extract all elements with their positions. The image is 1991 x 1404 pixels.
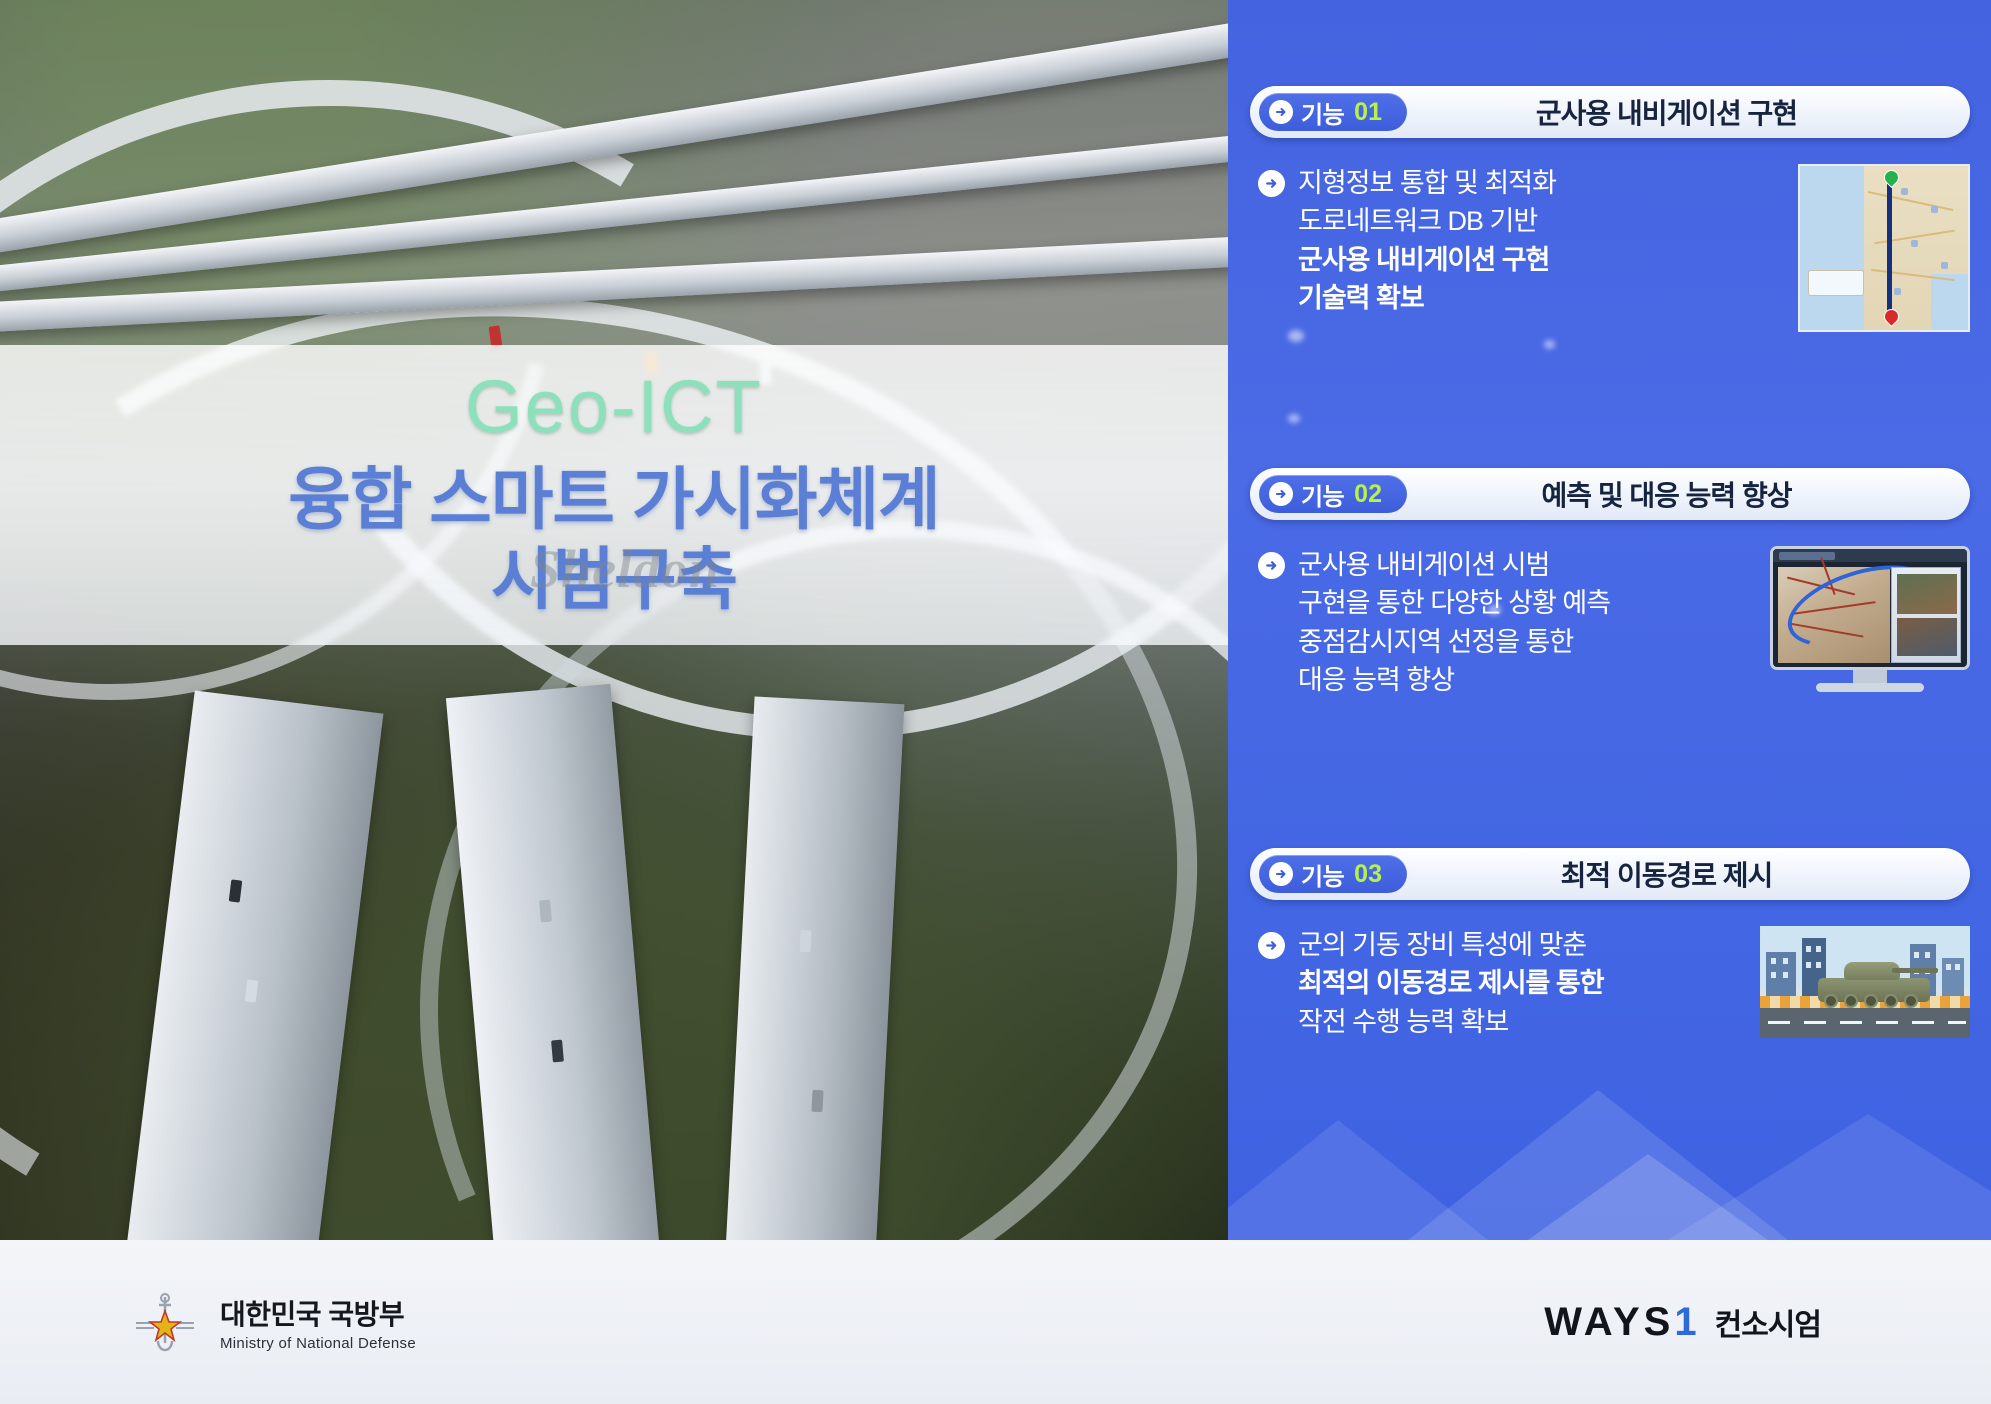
slide-footer: 대한민국 국방부 Ministry of National Defense WA…	[0, 1240, 1991, 1404]
feature-block-02: 기능 02 예측 및 대응 능력 향상 군사용 내비게이션 시범 구현을 통한 …	[1250, 468, 1970, 699]
body-line: 최적의 이동경로 제시를 통한	[1298, 964, 1604, 1002]
monitor-image	[1770, 546, 1970, 696]
feature-title-02: 예측 및 대응 능력 향상	[1407, 474, 1970, 514]
tank-illustration	[1760, 926, 1970, 1038]
badge-number-02: 02	[1354, 480, 1382, 509]
feature-header-03[interactable]: 기능 03 최적 이동경로 제시	[1250, 848, 1970, 900]
thumbnail-tank-on-road	[1760, 926, 1970, 1041]
thumbnail-korea-route-map	[1798, 164, 1970, 332]
tank-icon	[1818, 962, 1930, 1014]
left-photo-panel: Geo-ICT 융합 스마트 가시화체계 시범구축 Sheldon	[0, 0, 1228, 1240]
eyebrow-geo-ict: Geo-ICT	[465, 370, 763, 444]
arrow-right-icon	[1269, 100, 1293, 124]
thumbnail-desktop-monitor	[1770, 546, 1970, 699]
eta-label	[1808, 270, 1864, 296]
badge-label-01: 기능	[1301, 95, 1344, 130]
right-feature-panel: 기능 01 군사용 내비게이션 구현 지형정보 통합 및 최적화 도로네트워크 …	[1228, 0, 1991, 1240]
mountain-decoration	[1228, 1070, 1991, 1240]
feature-badge-01: 기능 01	[1259, 93, 1407, 131]
body-line: 대응 능력 향상	[1298, 661, 1610, 699]
feature-text-02: 군사용 내비게이션 시범 구현을 통한 다양한 상황 예측 중점감시지역 선정을…	[1298, 546, 1610, 699]
mnd-name-ko: 대한민국 국방부	[220, 1293, 416, 1333]
consortium-label: 컨소시엄	[1715, 1300, 1821, 1344]
page-title-line1: 융합 스마트 가시화체계	[288, 460, 939, 540]
ways-wordmark: WAYS1	[1544, 1300, 1700, 1345]
body-line: 군사용 내비게이션 구현	[1298, 241, 1556, 279]
end-pin-icon	[1881, 306, 1902, 327]
mnd-logo-text: 대한민국 국방부 Ministry of National Defense	[220, 1293, 416, 1352]
badge-number-03: 03	[1354, 860, 1382, 889]
badge-label-02: 기능	[1301, 477, 1344, 512]
page-title: 융합 스마트 가시화체계 시범구축	[288, 460, 939, 620]
ways-wordmark-one: 1	[1674, 1300, 1700, 1344]
body-line: 중점감시지역 선정을 통한	[1298, 623, 1610, 661]
feature-block-01: 기능 01 군사용 내비게이션 구현 지형정보 통합 및 최적화 도로네트워크 …	[1250, 86, 1970, 332]
feature-body-02: 군사용 내비게이션 시범 구현을 통한 다양한 상황 예측 중점감시지역 선정을…	[1250, 546, 1970, 699]
feature-text-01: 지형정보 통합 및 최적화 도로네트워크 DB 기반 군사용 내비게이션 구현 …	[1298, 164, 1556, 332]
ways1-consortium-logo: WAYS1 컨소시엄	[1544, 1300, 1821, 1345]
body-line: 군사용 내비게이션 시범	[1298, 546, 1610, 584]
arrow-right-icon	[1258, 552, 1285, 579]
mnd-logo-group: 대한민국 국방부 Ministry of National Defense	[128, 1291, 416, 1353]
mnd-emblem-icon	[128, 1291, 202, 1353]
arrow-right-icon	[1269, 482, 1293, 506]
badge-number-01: 01	[1354, 98, 1382, 127]
body-line: 기술력 확보	[1298, 279, 1556, 317]
feature-badge-02: 기능 02	[1259, 475, 1407, 513]
feature-title-03: 최적 이동경로 제시	[1407, 854, 1970, 894]
page-title-line2: 시범구축	[288, 540, 939, 620]
arrow-right-icon	[1258, 170, 1285, 197]
body-line: 작전 수행 능력 확보	[1298, 1003, 1604, 1041]
arrow-right-icon	[1269, 862, 1293, 886]
start-pin-icon	[1881, 167, 1902, 188]
map-image	[1798, 164, 1970, 332]
arrow-right-icon	[1258, 932, 1285, 959]
feature-header-01[interactable]: 기능 01 군사용 내비게이션 구현	[1250, 86, 1970, 138]
presentation-slide: Geo-ICT 융합 스마트 가시화체계 시범구축 Sheldon 기능 01	[0, 0, 1991, 1404]
feature-body-03: 군의 기동 장비 특성에 맞춘 최적의 이동경로 제시를 통한 작전 수행 능력…	[1250, 926, 1970, 1041]
body-line: 도로네트워크 DB 기반	[1298, 202, 1556, 240]
badge-label-03: 기능	[1301, 857, 1344, 892]
feature-badge-03: 기능 03	[1259, 855, 1407, 893]
body-line: 군의 기동 장비 특성에 맞춘	[1298, 926, 1604, 964]
feature-title-01: 군사용 내비게이션 구현	[1407, 92, 1970, 132]
slide-title-band: Geo-ICT 융합 스마트 가시화체계 시범구축	[0, 345, 1228, 645]
feature-block-03: 기능 03 최적 이동경로 제시 군의 기동 장비 특성에 맞춘 최적의 이동경…	[1250, 848, 1970, 1041]
body-line: 구현을 통한 다양한 상황 예측	[1298, 584, 1610, 622]
feature-text-03: 군의 기동 장비 특성에 맞춘 최적의 이동경로 제시를 통한 작전 수행 능력…	[1298, 926, 1604, 1041]
feature-body-01: 지형정보 통합 및 최적화 도로네트워크 DB 기반 군사용 내비게이션 구현 …	[1250, 164, 1970, 332]
feature-header-02[interactable]: 기능 02 예측 및 대응 능력 향상	[1250, 468, 1970, 520]
mnd-name-en: Ministry of National Defense	[220, 1335, 416, 1352]
body-line: 지형정보 통합 및 최적화	[1298, 164, 1556, 202]
ways-wordmark-main: WAYS	[1544, 1300, 1674, 1344]
